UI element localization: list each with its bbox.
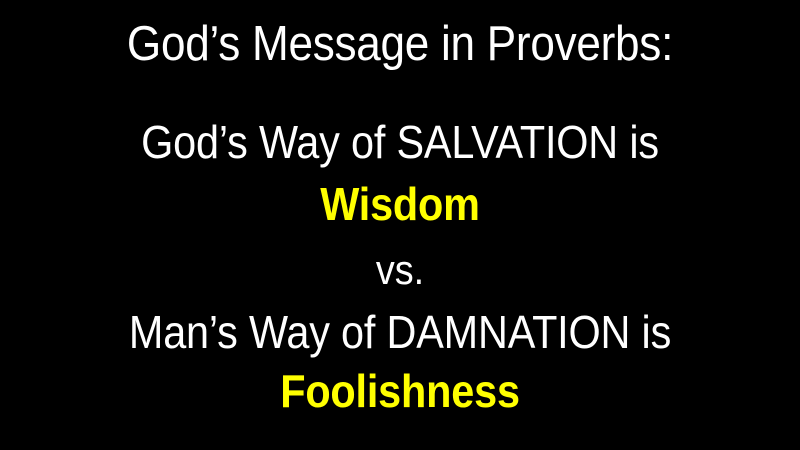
versus-separator: vs. xyxy=(40,249,760,291)
slide-body: God’s Way of SALVATION is Wisdom vs. Man… xyxy=(0,119,800,414)
damnation-statement: Man’s Way of DAMNATION is xyxy=(40,309,760,355)
presentation-slide: God’s Message in Proverbs: God’s Way of … xyxy=(0,0,800,450)
damnation-keyword-foolishness: Foolishness xyxy=(40,368,760,414)
slide-title: God’s Message in Proverbs: xyxy=(40,20,760,69)
salvation-keyword-wisdom: Wisdom xyxy=(40,181,760,227)
salvation-statement: God’s Way of SALVATION is xyxy=(40,119,760,165)
